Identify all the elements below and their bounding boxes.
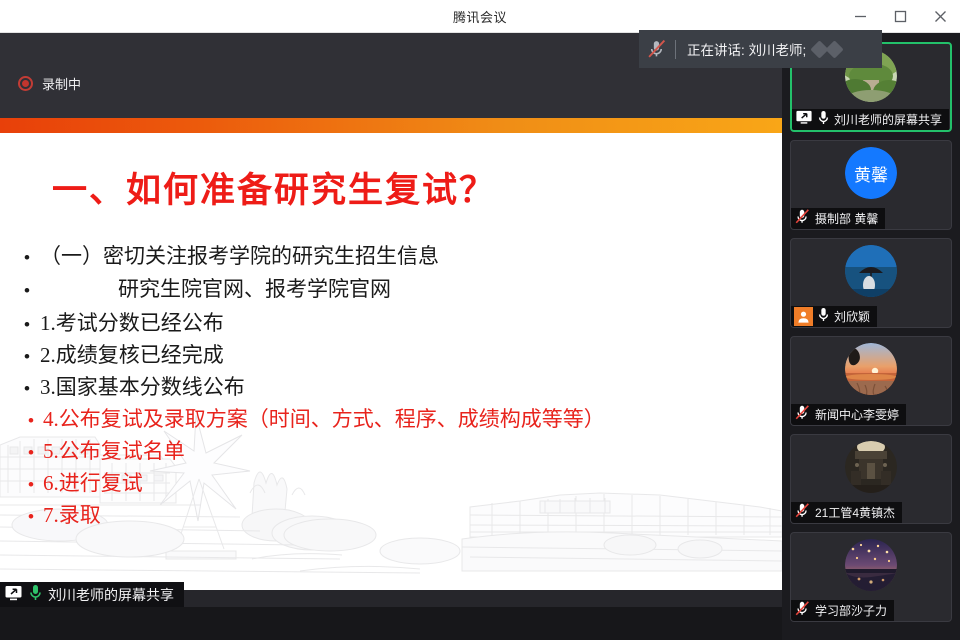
active-speaker-toast[interactable]: 正在讲话: 刘川老师; [639,30,882,68]
bullet-text: 3.国家基本分数线公布 [40,371,245,401]
screen-share-owner-name: 刘川老师的屏幕共享 [48,585,174,605]
participant-tile[interactable]: 学习部沙子力 [790,532,952,622]
bullet-text: 1.考试分数已经公布 [40,307,224,337]
maximize-button[interactable] [880,0,920,33]
window-controls [840,0,960,33]
slide-bullet-list: • （一）密切关注报考学院的研究生招生信息 • 研究生院官网、报考学院官网 • … [24,240,764,531]
bullet-text: （一）密切关注报考学院的研究生招生信息 [40,240,439,270]
bullet-marker: • [24,380,40,397]
slide-bullet-item: • 研究生院官网、报考学院官网 [24,273,764,307]
bullet-text: 4.公布复试及录取方案（时间、方式、程序、成绩构成等等） [40,403,605,433]
bullet-text: 7.录取 [40,499,101,529]
avatar [845,245,897,297]
slide-bullet-item: • 5.公布复试名单 [24,435,764,467]
screen-share-owner-label: 刘川老师的屏幕共享 [0,582,184,607]
avatar-initials: 黄馨 [845,147,897,199]
screen-share-icon [4,583,23,607]
close-button[interactable] [920,0,960,33]
participant-name: 21工管4黄镇杰 [815,504,895,521]
bullet-text: 5.公布复试名单 [40,435,185,465]
shared-screen-stage[interactable]: 录制中 [0,33,782,607]
bullet-text: 研究生院官网、报考学院官网 [40,273,391,303]
bullet-marker: • [24,444,40,461]
avatar: 黄馨 [845,147,897,199]
participant-tile-footer: 21工管4黄镇杰 [791,502,902,523]
slide-bullet-item: • 7.录取 [24,499,764,531]
bullet-marker: • [24,316,40,333]
bullet-marker: • [24,282,40,299]
presentation-slide: 一、如何准备研究生复试？ • （一）密切关注报考学院的研究生招生信息 • 研究生… [0,118,782,590]
participant-tile[interactable]: 黄馨 摄制部 黄馨 [790,140,952,230]
slide-title: 一、如何准备研究生复试？ [52,162,496,213]
mic-unmuted-icon [28,583,43,607]
minimize-button[interactable] [840,0,880,33]
mic-muted-icon [794,502,811,524]
title-bar: 腾讯会议 [0,0,960,33]
recording-dot-icon [18,76,33,91]
participant-name: 刘欣颖 [834,308,870,325]
bullet-marker: • [24,412,40,429]
mic-unmuted-icon [817,306,830,328]
mic-unmuted-icon [817,109,830,131]
avatar [845,441,897,493]
active-speaker-text: 正在讲话: 刘川老师; [676,39,806,59]
bullet-marker: • [24,348,40,365]
participant-tile[interactable]: 21工管4黄镇杰 [790,434,952,524]
participant-tile-footer: 刘川老师的屏幕共享 [792,109,949,130]
bullet-marker: • [24,249,40,266]
participant-tile[interactable]: 新闻中心李雯婷 [790,336,952,426]
slide-bullet-item: • 1.考试分数已经公布 [24,307,764,339]
slide-bullet-item: • 6.进行复试 [24,467,764,499]
participant-name: 刘川老师的屏幕共享 [834,111,942,128]
bullet-text: 2.成绩复核已经完成 [40,339,224,369]
participant-filmstrip[interactable]: 刘川老师的屏幕共享 黄馨 摄 [782,33,960,640]
recording-label: 录制中 [42,74,81,93]
participant-tile-footer: 刘欣颖 [791,306,877,327]
participant-name: 新闻中心李雯婷 [815,406,899,423]
participant-name: 学习部沙子力 [815,602,887,619]
slide-accent-band [0,118,782,133]
participant-tile-footer: 新闻中心李雯婷 [791,404,906,425]
mic-muted-icon [639,39,675,59]
bullet-marker: • [24,508,40,525]
mic-muted-icon [794,600,811,622]
avatar [845,539,897,591]
participant-tile[interactable]: 刘欣颖 [790,238,952,328]
slide-bullet-item: • 2.成绩复核已经完成 [24,339,764,371]
participant-name: 摄制部 黄馨 [815,210,878,227]
screen-share-icon [795,108,813,131]
slide-bullet-item: • 3.国家基本分数线公布 [24,371,764,403]
meeting-body: 录制中 [0,33,960,640]
participant-tile-footer: 学习部沙子力 [791,600,894,621]
avatar [845,343,897,395]
bullet-marker: • [24,476,40,493]
window-title: 腾讯会议 [453,7,507,26]
slide-bullet-item: • （一）密切关注报考学院的研究生招生信息 [24,240,764,273]
drag-handle[interactable] [813,43,841,56]
bullet-text: 6.进行复试 [40,467,143,497]
tencent-meeting-window: 腾讯会议 录制中 [0,0,960,640]
mic-muted-icon [794,404,811,426]
recording-indicator: 录制中 [18,74,81,93]
participant-tile-footer: 摄制部 黄馨 [791,208,885,229]
host-badge-icon [794,307,813,326]
slide-bullet-item: • 4.公布复试及录取方案（时间、方式、程序、成绩构成等等） [24,403,764,435]
mic-muted-icon [794,208,811,230]
